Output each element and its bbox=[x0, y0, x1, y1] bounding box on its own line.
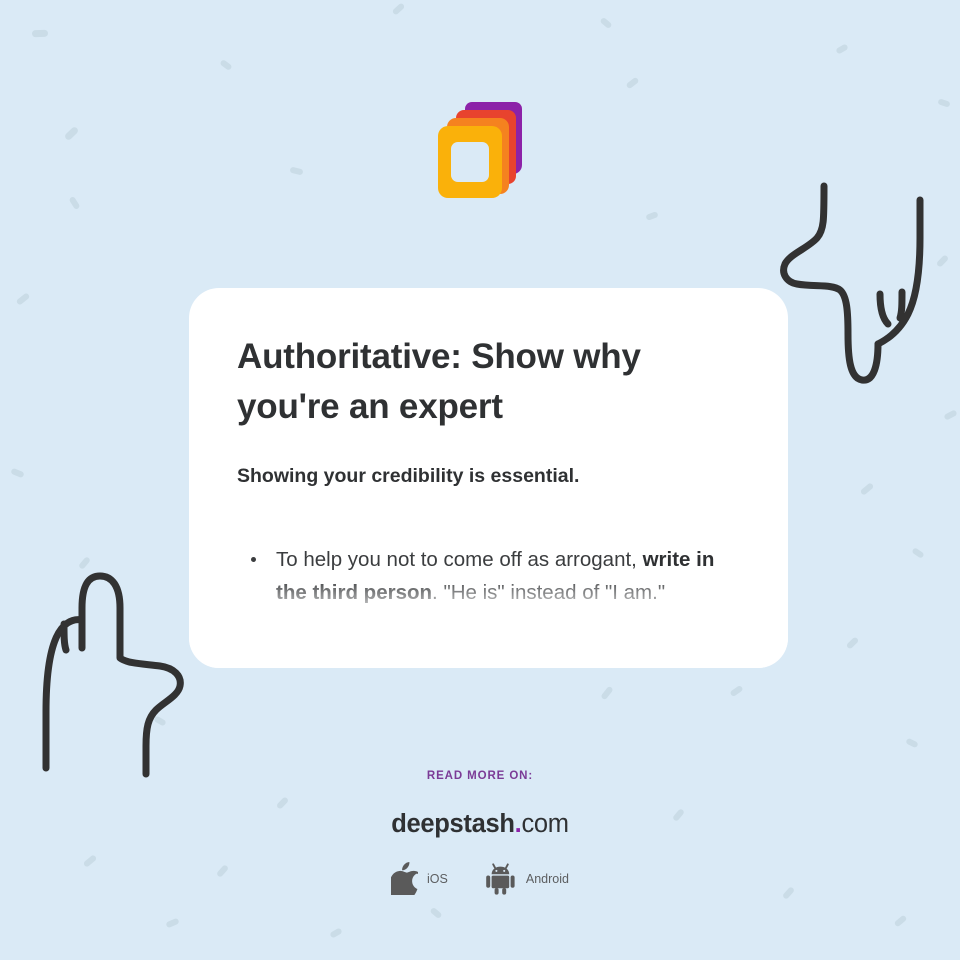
bullet-trail-text: . "He is" instead of "I am." bbox=[432, 581, 665, 604]
page-title: Authoritative: Show why you're an expert bbox=[237, 332, 740, 432]
speckle bbox=[219, 59, 232, 71]
speckle bbox=[16, 292, 31, 305]
speckle bbox=[32, 30, 48, 38]
card-subtitle: Showing your credibility is essential. bbox=[237, 465, 740, 488]
speckle bbox=[153, 715, 166, 726]
speckle bbox=[626, 77, 640, 90]
hand-pointing-up-icon bbox=[24, 560, 204, 785]
speckle bbox=[943, 409, 957, 420]
speckle bbox=[329, 927, 342, 938]
speckle bbox=[392, 2, 406, 15]
android-icon bbox=[484, 862, 517, 895]
speckle bbox=[846, 636, 860, 649]
card-body: To help you not to come off as arrogant,… bbox=[237, 543, 740, 609]
brand-wordmark[interactable]: deepstash.com bbox=[0, 810, 960, 839]
speckle bbox=[69, 196, 81, 210]
brand-name: deepstash bbox=[391, 810, 514, 838]
apple-icon bbox=[391, 862, 418, 895]
ios-badge[interactable]: iOS bbox=[391, 862, 448, 895]
logo-mark bbox=[438, 102, 522, 198]
speckle bbox=[860, 482, 875, 496]
idea-card: Authoritative: Show why you're an expert… bbox=[189, 288, 788, 668]
speckle bbox=[165, 918, 179, 929]
speckle bbox=[894, 915, 908, 928]
speckle bbox=[835, 43, 848, 54]
speckle bbox=[905, 738, 918, 749]
ios-label: iOS bbox=[427, 872, 448, 886]
speckle bbox=[10, 468, 24, 478]
speckle bbox=[600, 686, 613, 701]
speckle bbox=[911, 547, 924, 559]
speckle bbox=[645, 211, 658, 221]
footer: READ MORE ON: deepstash.com iOS bbox=[0, 770, 960, 895]
speckle bbox=[599, 17, 612, 29]
deepstash-logo bbox=[0, 102, 960, 198]
bullet-list: To help you not to come off as arrogant,… bbox=[237, 543, 740, 609]
speckle bbox=[729, 685, 743, 697]
speckle bbox=[936, 254, 949, 268]
speckle bbox=[429, 907, 442, 919]
list-item: To help you not to come off as arrogant,… bbox=[237, 543, 740, 609]
app-store-badges: iOS bbox=[0, 862, 960, 895]
speckle bbox=[78, 556, 91, 570]
idea-card-content: Authoritative: Show why you're an expert… bbox=[189, 288, 788, 609]
brand-tld: com bbox=[521, 810, 568, 838]
android-badge[interactable]: Android bbox=[484, 862, 569, 895]
logo-layer-cutout bbox=[451, 142, 489, 182]
hand-pointing-down-icon bbox=[770, 172, 950, 397]
android-label: Android bbox=[526, 872, 569, 886]
bullet-lead-text: To help you not to come off as arrogant, bbox=[276, 548, 643, 571]
read-more-label: READ MORE ON: bbox=[0, 770, 960, 782]
